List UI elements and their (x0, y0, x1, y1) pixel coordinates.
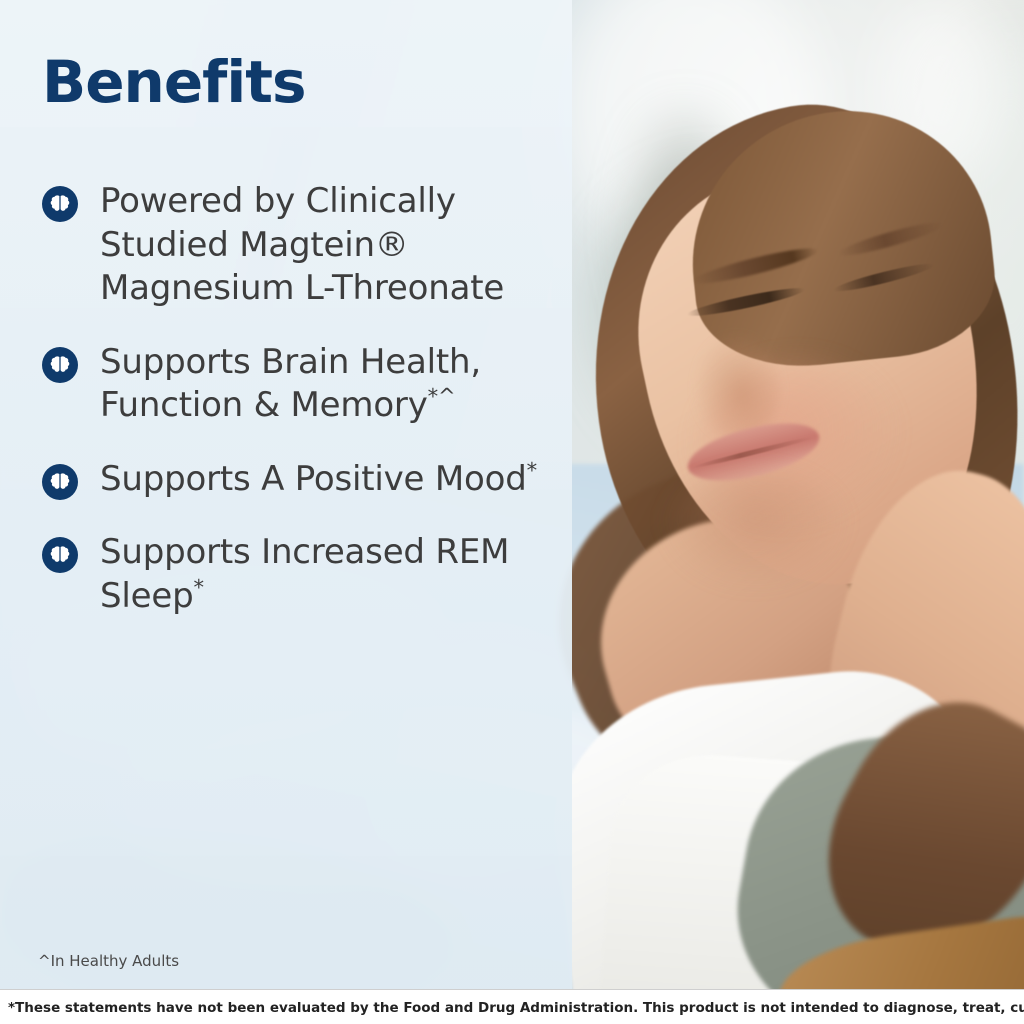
page-title: Benefits (42, 48, 306, 116)
benefit-text: Supports Increased REM Sleep* (100, 531, 552, 618)
list-item: Powered by Clinically Studied Magtein® M… (42, 180, 552, 311)
list-item: Supports Increased REM Sleep* (42, 531, 552, 618)
healthy-adults-footnote: ^In Healthy Adults (38, 952, 179, 970)
brain-icon (42, 186, 78, 222)
benefit-superscript: *^ (428, 384, 456, 409)
benefit-text: Supports Brain Health, Function & Memory… (100, 341, 552, 428)
product-benefits-image: Benefits Powered by Clinically Studied M… (0, 0, 1024, 1024)
list-item: Supports A Positive Mood* (42, 458, 552, 502)
benefits-list: Powered by Clinically Studied Magtein® M… (42, 180, 552, 648)
benefits-content: Benefits Powered by Clinically Studied M… (0, 0, 572, 989)
benefit-text: Powered by Clinically Studied Magtein® M… (100, 180, 552, 311)
brain-icon (42, 464, 78, 500)
benefit-superscript: * (193, 574, 203, 599)
brain-icon (42, 347, 78, 383)
fda-disclaimer-bar: *These statements have not been evaluate… (0, 989, 1024, 1024)
list-item: Supports Brain Health, Function & Memory… (42, 341, 552, 428)
brain-icon (42, 537, 78, 573)
benefit-superscript: * (527, 457, 537, 482)
benefit-text: Supports A Positive Mood* (100, 458, 537, 502)
fda-disclaimer-text: *These statements have not been evaluate… (0, 1000, 1024, 1016)
chin-shading (660, 470, 850, 590)
